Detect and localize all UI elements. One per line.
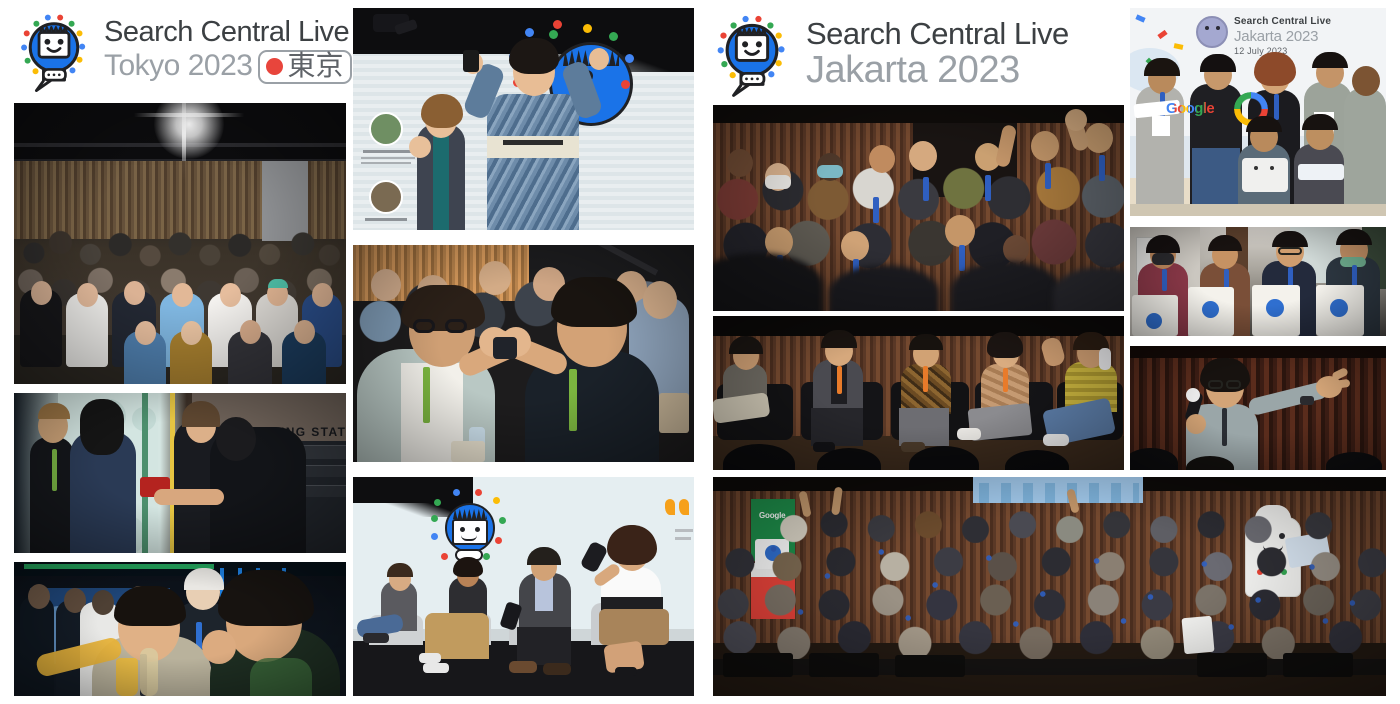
- photo-jakarta-panel-stage: [713, 316, 1124, 470]
- tokyo-badge-text: 東京: [287, 52, 343, 81]
- wall-title-line2: Jakarta 2023: [1234, 28, 1318, 45]
- tokyo-logo-lockup: Search Central Live Tokyo 2023 東京: [10, 8, 350, 94]
- jakarta-title-line1: Search Central Live: [806, 18, 1069, 50]
- tokyo-japan-badge: 東京: [258, 50, 352, 85]
- photo-jakarta-audience-waving: [713, 105, 1124, 311]
- photo-jakarta-audience-question: [1130, 346, 1386, 470]
- photo-tokyo-award-handover: CHARGING STATION: [14, 393, 346, 553]
- jakarta-title-line2: Jakarta 2023: [806, 51, 1069, 90]
- google-prop-label: Google: [1166, 100, 1214, 117]
- japan-flag-dot-icon: [266, 58, 283, 75]
- wall-title-line1: Search Central Live: [1234, 16, 1331, 27]
- photo-jakarta-swag-bags: [1130, 227, 1386, 336]
- photo-jakarta-photo-wall-group: Search Central Live Jakarta 2023 12 July…: [1130, 8, 1386, 216]
- tokyo-title-line1: Search Central Live: [104, 18, 352, 48]
- search-central-mascot-icon: [706, 8, 798, 100]
- search-central-mascot-icon: [10, 7, 98, 95]
- photo-tokyo-stage-yukata-speaker: [353, 8, 694, 230]
- photo-jakarta-full-group: Google: [713, 477, 1386, 696]
- photo-tokyo-audience-group: [14, 103, 346, 384]
- jakarta-logo-lockup: Search Central Live Jakarta 2023: [706, 8, 1126, 100]
- photo-tokyo-panel-discussion: [353, 477, 694, 696]
- photo-tokyo-networking-drinks: [14, 562, 346, 696]
- collage-canvas: Search Central Live Tokyo 2023 東京: [0, 0, 1400, 704]
- photo-tokyo-heart-hands-attendees: [353, 245, 694, 462]
- tokyo-title-line2: Tokyo 2023: [104, 51, 252, 82]
